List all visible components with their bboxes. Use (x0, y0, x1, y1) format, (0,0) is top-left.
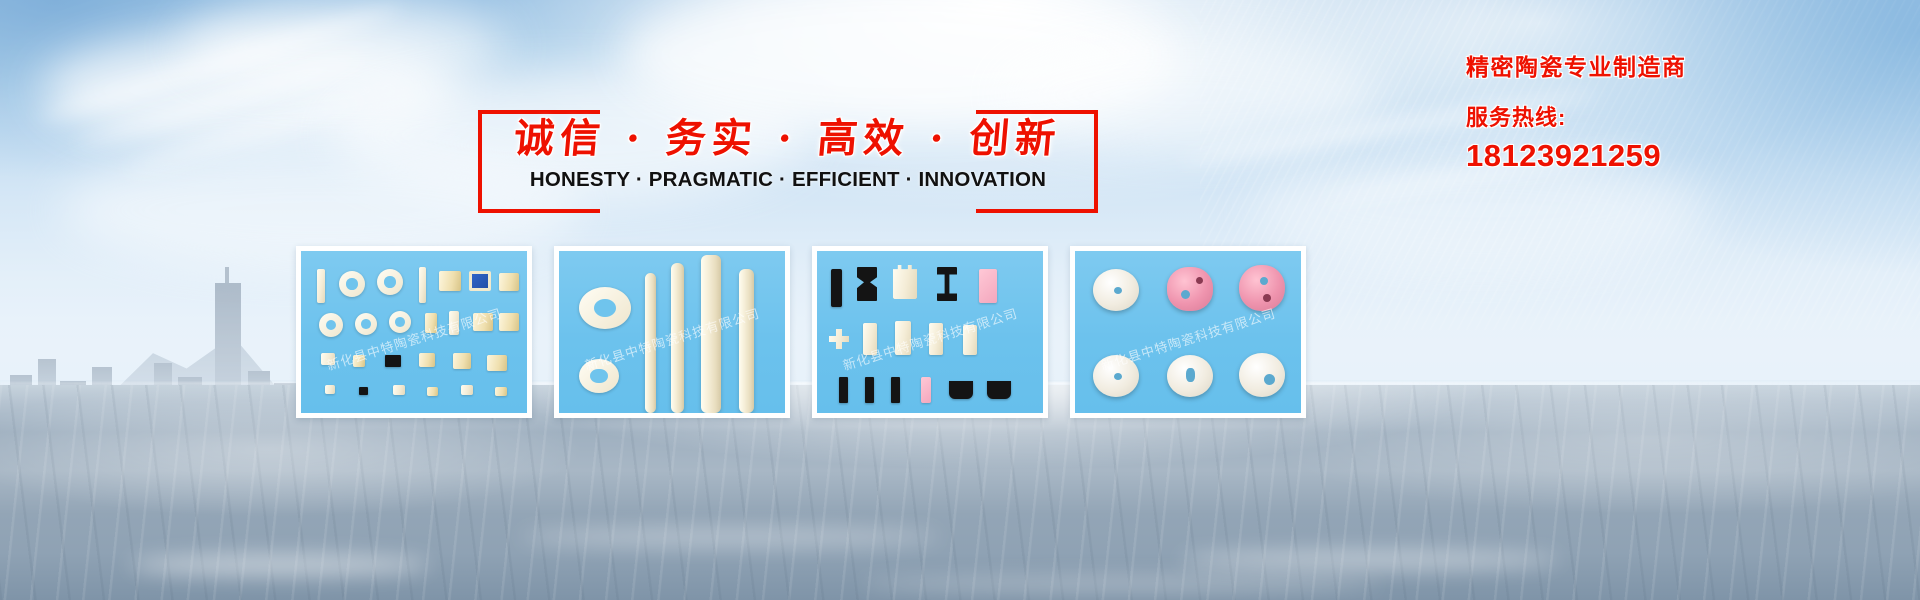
ceramic-ring (579, 287, 631, 329)
ceramic-disc (1093, 355, 1139, 397)
hotline-number[interactable]: 18123921259 (1466, 138, 1866, 174)
ceramic-part (499, 313, 519, 331)
puddle-highlight (520, 528, 940, 546)
ceramic-disc (1167, 355, 1213, 397)
ceramic-disc (1167, 267, 1213, 311)
ceramic-disc (1093, 269, 1139, 311)
ceramic-part (895, 321, 911, 355)
ceramic-disc (1239, 265, 1285, 311)
ceramic-rod (701, 255, 721, 413)
ceramic-part (839, 377, 848, 403)
ceramic-rod (739, 269, 754, 413)
disc-hole (1114, 373, 1122, 380)
ceramic-part (355, 313, 377, 335)
ceramic-part (495, 387, 507, 396)
ceramic-part (473, 313, 493, 331)
ceramic-part (319, 313, 343, 337)
ceramic-part (439, 271, 461, 291)
disc-hole (1196, 277, 1203, 284)
ceramic-rod (671, 263, 684, 413)
ceramic-part (461, 385, 473, 395)
ceramic-part (949, 381, 973, 399)
puddle-highlight (860, 576, 1380, 592)
disc-hole (1260, 277, 1268, 285)
product-panel-row: 新化县中特陶瓷科技有限公司 新化县中特陶瓷科技有限公司 (296, 246, 1528, 408)
ceramic-part (377, 269, 403, 295)
ceramic-part (321, 353, 335, 365)
ceramic-part (963, 325, 977, 355)
ceramic-part (929, 323, 943, 355)
slogan-block: 诚信 · 务实 · 高效 · 创新 HONESTY · PRAGMATIC · … (478, 110, 1098, 205)
ceramic-part (389, 311, 411, 333)
ceramic-part (353, 355, 365, 367)
slogan-chinese: 诚信 · 务实 · 高效 · 创新 (475, 106, 1100, 164)
ceramic-part (979, 269, 997, 303)
ceramic-part (325, 385, 335, 394)
contact-block: 精密陶瓷专业制造商 服务热线: 18123921259 (1466, 48, 1866, 174)
ceramic-part (453, 353, 471, 369)
ceramic-part (831, 269, 842, 307)
ceramic-part (427, 387, 438, 396)
ceramic-part (419, 267, 426, 303)
disc-hole (1186, 368, 1195, 382)
ceramic-part (425, 313, 437, 333)
slogan-english: HONESTY · PRAGMATIC · EFFICIENT · INNOVA… (478, 168, 1098, 192)
puddle-highlight (130, 554, 430, 576)
disc-hole (1264, 374, 1275, 385)
disc-hole (1263, 294, 1271, 302)
hotline-label: 服务热线: (1466, 100, 1866, 132)
ceramic-part (987, 381, 1011, 399)
disc-hole (1181, 290, 1190, 299)
disc-hole (1114, 287, 1122, 294)
ceramic-part (449, 311, 459, 335)
product-panel-2[interactable]: 新化县中特陶瓷科技有限公司 (554, 246, 790, 418)
ceramic-part (339, 271, 365, 297)
ceramic-part (385, 355, 401, 367)
ceramic-part (893, 265, 917, 299)
ceramic-part (487, 355, 507, 371)
ceramic-part (921, 377, 931, 403)
ceramic-rod (645, 273, 656, 413)
product-panel-3[interactable]: 新化县中特陶瓷科技有限公司 (812, 246, 1048, 418)
ceramic-part (865, 377, 874, 403)
company-tagline: 精密陶瓷专业制造商 (1466, 48, 1866, 82)
ceramic-ring (579, 359, 619, 393)
puddle-highlight (1180, 550, 1560, 570)
ceramic-part (317, 269, 325, 303)
ceramic-part (419, 353, 435, 367)
promo-banner: 诚信 · 务实 · 高效 · 创新 HONESTY · PRAGMATIC · … (0, 0, 1920, 600)
ceramic-part (863, 323, 877, 355)
ceramic-part (469, 271, 491, 291)
product-panel-4[interactable]: 新化县中特陶瓷科技有限公司 (1070, 246, 1306, 418)
ceramic-part (499, 273, 519, 291)
ceramic-part (393, 385, 405, 395)
ceramic-part (359, 387, 368, 395)
product-panel-1[interactable]: 新化县中特陶瓷科技有限公司 (296, 246, 532, 418)
ceramic-disc (1239, 353, 1285, 397)
ceramic-part (891, 377, 900, 403)
